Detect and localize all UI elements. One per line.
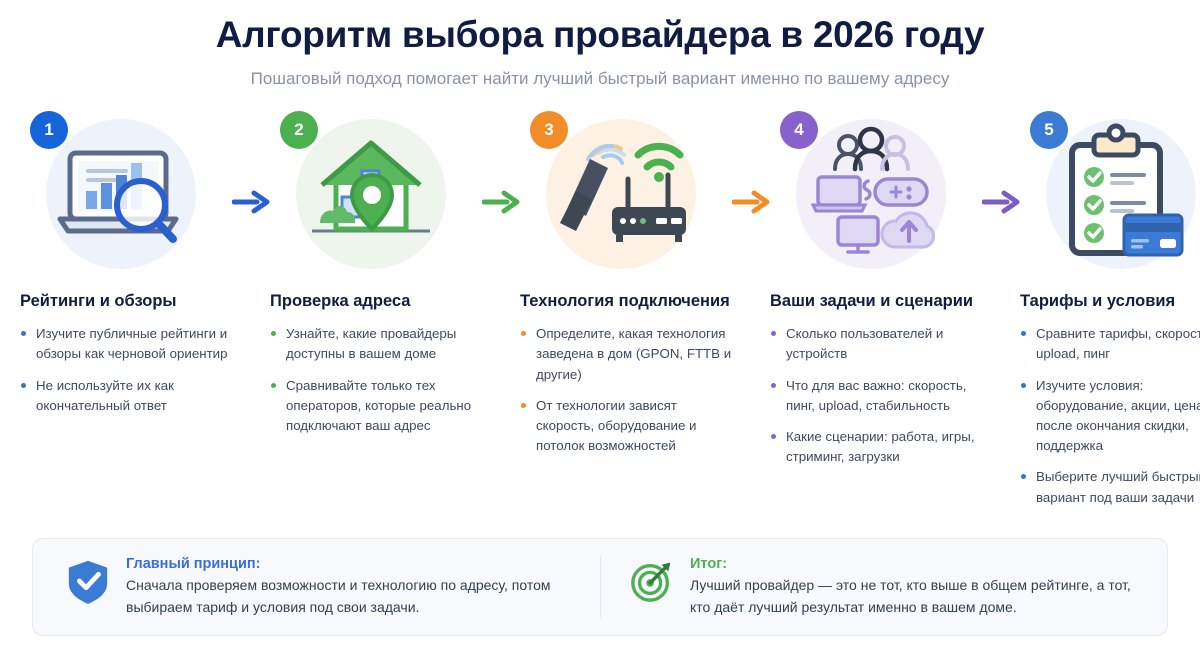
step-4: 4 (770, 111, 982, 479)
step-1-title: Рейтинги и обзоры (20, 291, 232, 312)
step-3-bullets: Определите, какая технология заведена в … (520, 324, 732, 456)
arrow-1-to-2 (232, 111, 270, 215)
house-map-pin-icon (296, 119, 446, 269)
infographic-root: Алгоритм выбора провайдера в 2026 году П… (0, 0, 1200, 658)
step-5-bullets: Сравните тарифы, скорость, upload, пинг … (1020, 324, 1200, 508)
arrow-4-to-5 (982, 111, 1020, 215)
summary-result-text: Лучший провайдер — это не тот, кто выше … (690, 575, 1135, 618)
step-2-bullets: Узнайте, какие провайдеры доступны в ваш… (270, 324, 482, 436)
list-item: Изучите условия: оборудование, акции, це… (1020, 376, 1200, 457)
page-title: Алгоритм выбора провайдера в 2026 году (20, 14, 1180, 57)
step-1-art: 1 (20, 111, 232, 283)
arrow-right-icon (732, 189, 770, 215)
step-5-number-badge: 5 (1030, 111, 1068, 149)
header: Алгоритм выбора провайдера в 2026 году П… (20, 0, 1180, 89)
step-2: 2 Проверка адреса Узнайте, какие провайд… (270, 111, 482, 448)
laptop-chart-magnifier-icon (46, 119, 196, 269)
page-subtitle: Пошаговый подход помогает найти лучший б… (20, 69, 1180, 89)
summary-principle-label: Главный принцип: (126, 556, 590, 572)
step-5: 5 (1020, 111, 1200, 519)
summary-principle-body: Главный принцип: Сначала проверяем возмо… (126, 556, 590, 618)
summary-principle: Главный принцип: Сначала проверяем возмо… (55, 556, 600, 618)
step-4-art: 4 (770, 111, 982, 283)
arrow-right-icon (232, 189, 270, 215)
step-4-title: Ваши задачи и сценарии (770, 291, 982, 312)
fiber-cable-router-wifi-icon (546, 119, 696, 269)
step-1: 1 Рейтинги и обзоры Изучите публи (20, 111, 232, 427)
shield-check-icon (65, 558, 111, 604)
arrow-right-icon (482, 189, 520, 215)
step-2-art: 2 (270, 111, 482, 283)
step-3-art: 3 (520, 111, 732, 283)
arrow-right-icon (982, 189, 1020, 215)
list-item: Не используйте их как окончательный отве… (20, 376, 232, 416)
list-item: Что для вас важно: скорость, пинг, uploa… (770, 376, 982, 416)
arrow-3-to-4 (732, 111, 770, 215)
step-2-number-badge: 2 (280, 111, 318, 149)
summary-result-label: Итог: (690, 556, 1135, 572)
summary-panel: Главный принцип: Сначала проверяем возмо… (32, 538, 1168, 636)
step-3: 3 (520, 111, 732, 468)
step-5-art: 5 (1020, 111, 1200, 283)
list-item: Узнайте, какие провайдеры доступны в ваш… (270, 324, 482, 364)
list-item: Сравнивайте только тех операторов, котор… (270, 376, 482, 437)
summary-principle-text: Сначала проверяем возможности и технолог… (126, 575, 590, 618)
clipboard-checklist-card-icon (1046, 119, 1196, 269)
step-1-bullets: Изучите публичные рейтинги и обзоры как … (20, 324, 232, 416)
target-arrow-icon (629, 558, 675, 604)
step-5-title: Тарифы и условия (1020, 291, 1200, 312)
step-4-number-badge: 4 (780, 111, 818, 149)
list-item: Какие сценарии: работа, игры, стриминг, … (770, 427, 982, 467)
step-2-title: Проверка адреса (270, 291, 482, 312)
step-3-number-badge: 3 (530, 111, 568, 149)
list-item: Определите, какая технология заведена в … (520, 324, 732, 385)
summary-result: Итог: Лучший провайдер — это не тот, кто… (600, 556, 1145, 618)
list-item: Сравните тарифы, скорость, upload, пинг (1020, 324, 1200, 364)
list-item: Сколько пользователей и устройств (770, 324, 982, 364)
summary-result-body: Итог: Лучший провайдер — это не тот, кто… (690, 556, 1135, 618)
list-item: От технологии зависят скорость, оборудов… (520, 396, 732, 457)
step-4-bullets: Сколько пользователей и устройств Что дл… (770, 324, 982, 467)
step-1-number-badge: 1 (30, 111, 68, 149)
list-item: Изучите публичные рейтинги и обзоры как … (20, 324, 232, 364)
users-devices-icon (796, 119, 946, 269)
list-item: Выберите лучший быстрый вариант под ваши… (1020, 467, 1200, 507)
step-3-title: Технология подключения (520, 291, 732, 312)
arrow-2-to-3 (482, 111, 520, 215)
steps-row: 1 Рейтинги и обзоры Изучите публи (20, 111, 1180, 519)
